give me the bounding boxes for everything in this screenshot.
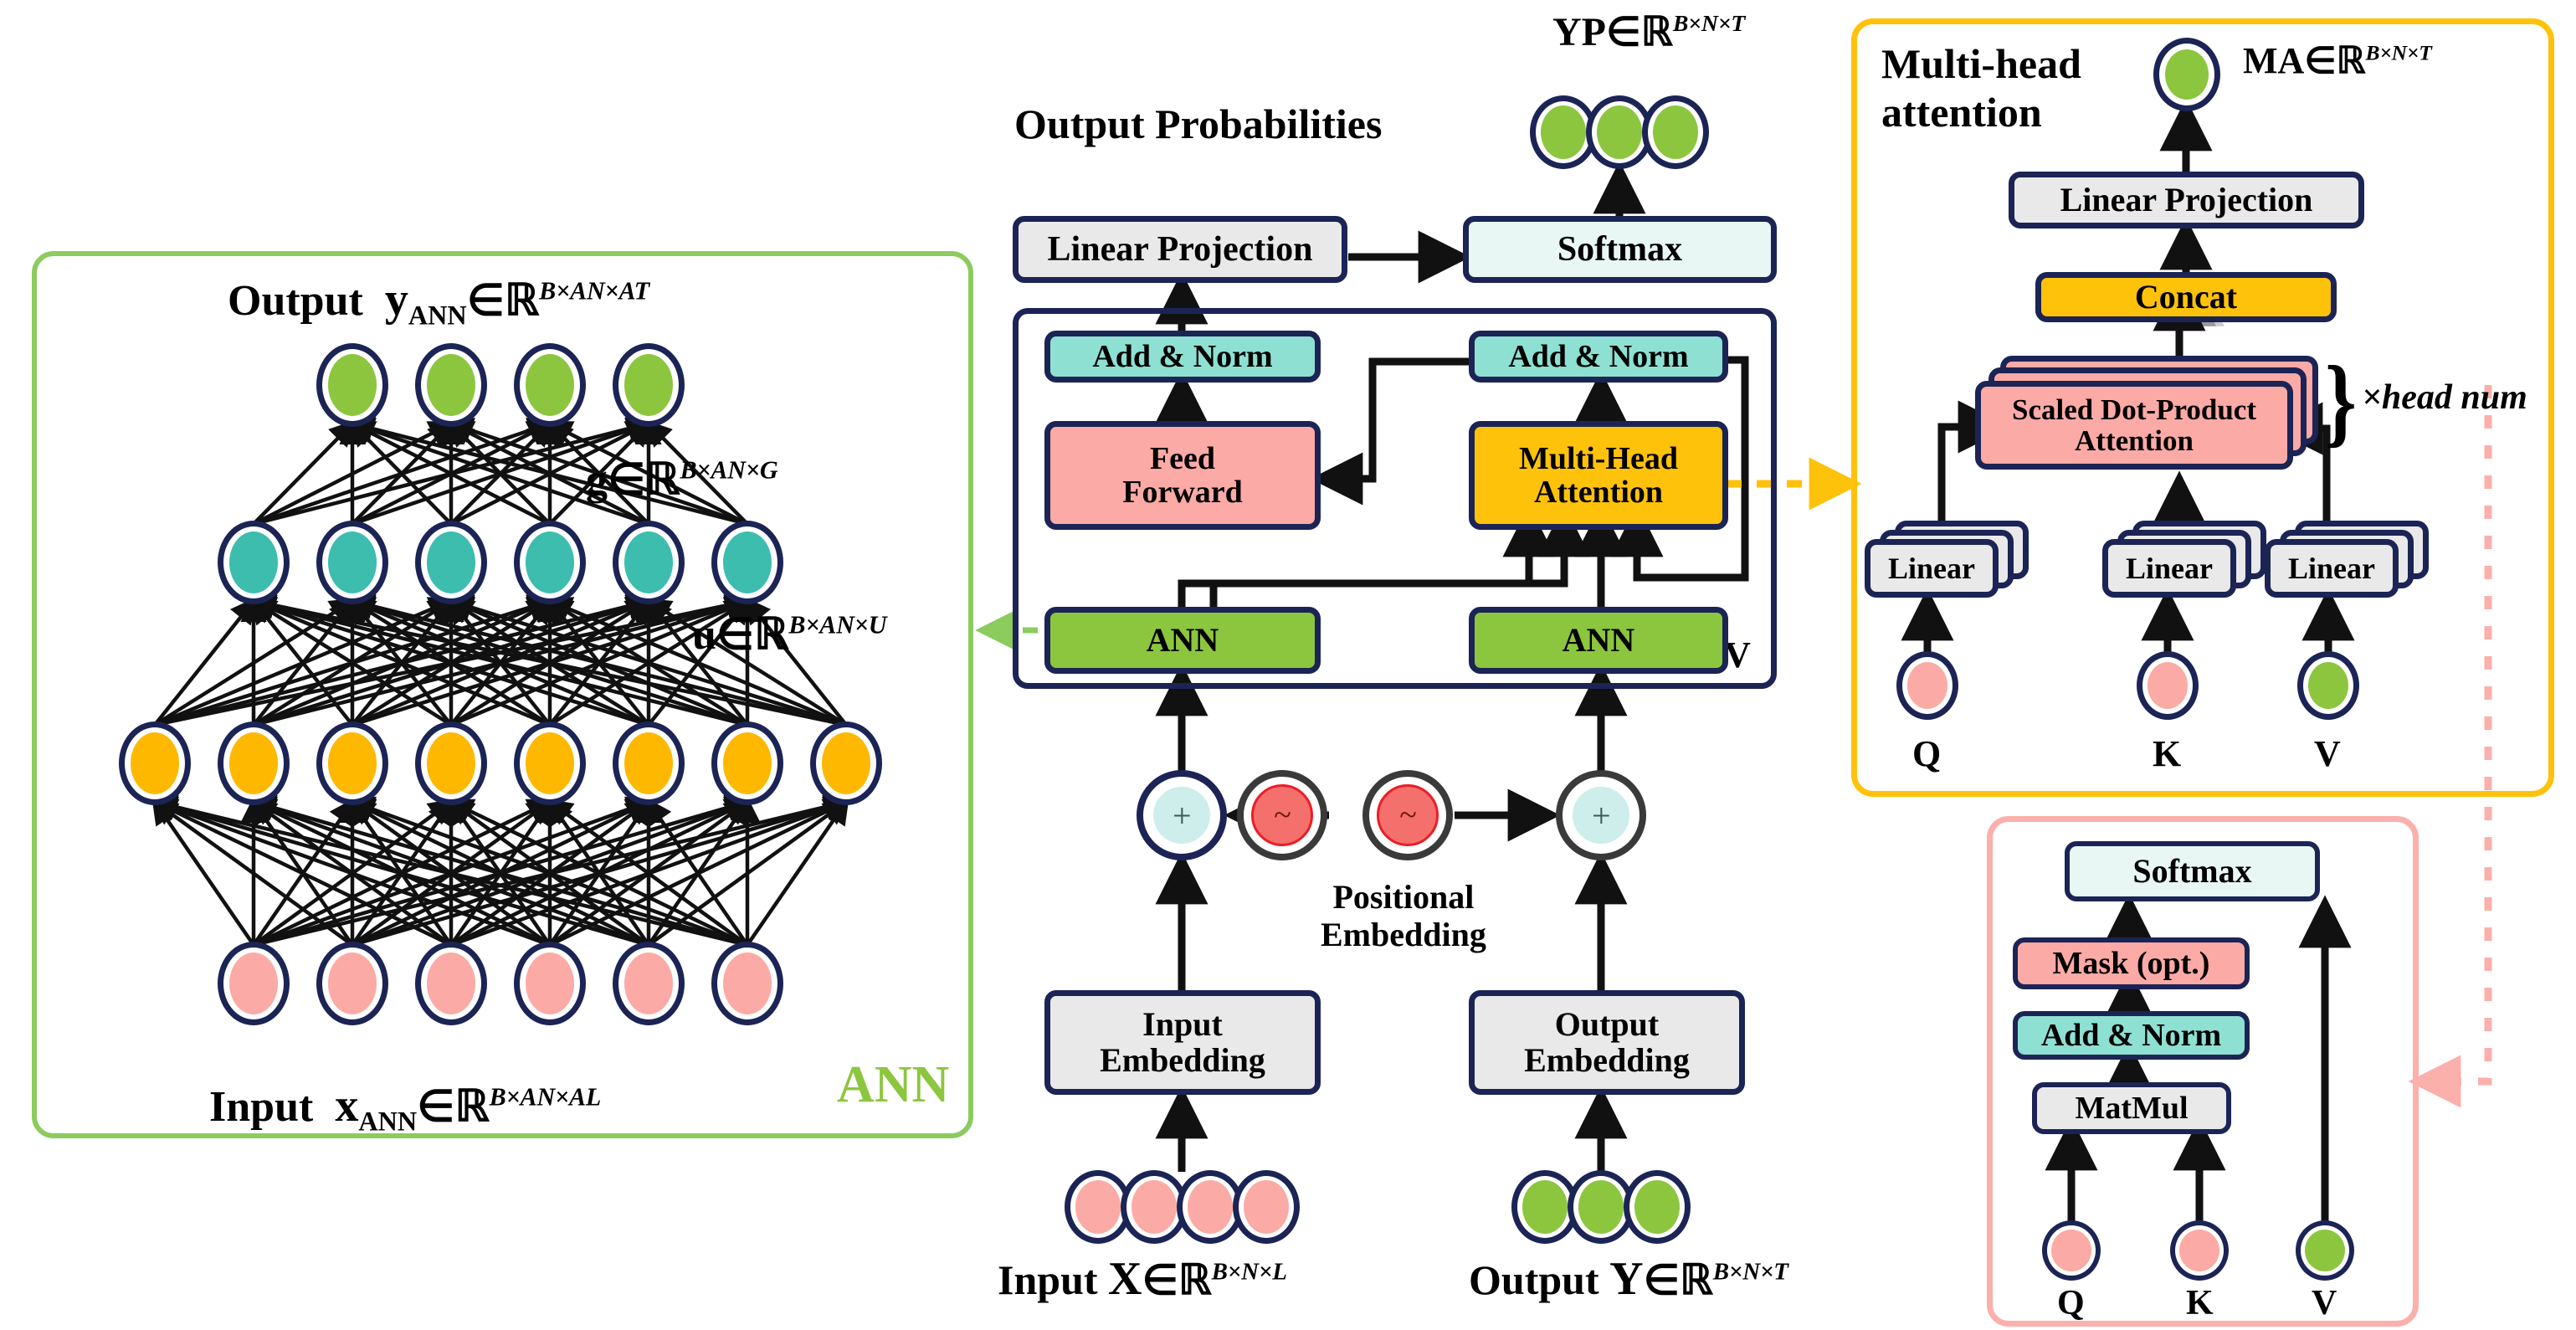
output-embedding-box[interactable]: Output Embedding [1469, 990, 1745, 1095]
scaled-dot-product-stack: Scaled Dot-Product Attention [1975, 356, 2327, 481]
ann-box-right[interactable]: ANN [1469, 607, 1728, 674]
tilde-glyph-right: ~ [1377, 784, 1439, 846]
mha-linear-projection-box[interactable]: Linear Projection [2009, 172, 2364, 229]
ann-node-hidden-layer-g-5 [711, 521, 783, 604]
yp-label: YP∈ℝB×N×T [1552, 10, 1745, 55]
add-norm-right-box[interactable]: Add & Norm [1469, 331, 1728, 383]
mha-k-node [2137, 651, 2199, 720]
ann-node-input-layer-0 [218, 942, 290, 1025]
yp-token-2 [1642, 95, 1709, 169]
ann-node-hidden-layer-u-2 [316, 721, 388, 805]
sdpa-k-label: K [2186, 1284, 2214, 1323]
ma-symbol: MA [2243, 40, 2304, 81]
ann-box-left[interactable]: ANN [1044, 607, 1321, 674]
scaled-dot-product-attention-box[interactable]: Scaled Dot-Product Attention [1975, 381, 2293, 470]
ann-output-sub: ANN [408, 300, 467, 330]
ann-node-output-layer-1 [415, 343, 487, 427]
plus-glyph: + [1153, 787, 1210, 844]
ann-input-sup: B×AN×AL [490, 1083, 602, 1112]
ann-u-symbol: u [692, 611, 716, 659]
multi-head-attention-label: Multi-Head Attention [1519, 442, 1678, 510]
sdpa-v-label: V [2312, 1284, 2337, 1323]
yp-symbol: YP [1552, 10, 1606, 54]
ann-input-in: ∈ [417, 1083, 454, 1131]
ann-node-hidden-layer-u-0 [119, 721, 191, 805]
tf-input-symbol: X [1108, 1253, 1142, 1305]
ann-node-hidden-layer-u-1 [218, 721, 290, 805]
ann-panel [32, 251, 973, 1138]
sdpa-label: Scaled Dot-Product Attention [2012, 394, 2256, 456]
ann-g-R: ℝ [645, 456, 680, 504]
output-token-2 [1624, 1170, 1691, 1244]
ann-g-sup: B×AN×G [680, 456, 777, 485]
mha-k-label: K [2153, 733, 2181, 774]
ann-node-hidden-layer-g-2 [415, 521, 487, 604]
mha-q-label: Q [1912, 733, 1941, 774]
tilde-node-left: ~ [1237, 770, 1327, 860]
plus-glyph-right: + [1573, 787, 1629, 844]
ann-node-hidden-layer-u-4 [514, 721, 586, 805]
mha-q-node [1896, 651, 1958, 720]
ann-input-sub: ANN [358, 1106, 417, 1136]
diagram-canvas: Output yANN∈ℝB×AN×AT g∈ℝB×AN×G u∈ℝB×AN×U… [0, 0, 2576, 1330]
input-embedding-label: Input Embedding [1100, 1007, 1265, 1078]
ann-node-output-layer-2 [514, 343, 586, 427]
ann-node-input-layer-5 [711, 942, 783, 1025]
tf-output-sup: B×N×T [1713, 1258, 1788, 1285]
concat-box[interactable]: Concat [2035, 272, 2337, 322]
ann-output-label: Output yANN∈ℝB×AN×AT [228, 274, 649, 330]
ma-output-node [2153, 38, 2220, 111]
head-num-brace: } [2325, 345, 2357, 457]
linear-v-stack: Linear [2265, 521, 2457, 604]
mha-v-label: V [2314, 733, 2341, 774]
positional-embedding-label: Positional Embedding [1321, 879, 1486, 954]
sdpa-v-node [2296, 1220, 2354, 1281]
sdpa-k-node [2170, 1220, 2229, 1281]
ann-input-prefix: Input [209, 1083, 313, 1131]
ann-u-label: u∈ℝB×AN×U [692, 611, 886, 660]
ann-output-in: ∈ [467, 277, 505, 325]
transformer-input-label: Input X∈ℝB×N×L [998, 1253, 1287, 1306]
linear-q-stack: Linear [1865, 521, 2057, 604]
yp-in: ∈ [1606, 10, 1641, 54]
linear-v-box[interactable]: Linear [2265, 539, 2399, 598]
sdpa-matmul-box[interactable]: MatMul [2032, 1082, 2231, 1134]
tf-input-in: ∈ [1142, 1256, 1178, 1303]
ma-label: MA∈ℝB×N×T [2243, 40, 2432, 81]
linear-projection-box[interactable]: Linear Projection [1013, 216, 1347, 283]
transformer-output-label: Output Y∈ℝB×N×T [1469, 1253, 1788, 1306]
ann-g-in: ∈ [608, 456, 645, 504]
tf-output-prefix: Output [1469, 1256, 1599, 1303]
ann-node-output-layer-3 [613, 343, 685, 427]
ann-node-hidden-layer-u-5 [613, 721, 685, 805]
sdpa-softmax-box[interactable]: Softmax [2065, 841, 2320, 901]
linear-k-box[interactable]: Linear [2102, 539, 2236, 598]
ann-u-sup: B×AN×U [788, 611, 886, 639]
ann-panel-badge: ANN [837, 1056, 949, 1114]
ann-node-hidden-layer-g-4 [613, 521, 685, 604]
yp-R: ℝ [1641, 10, 1673, 54]
head-num-label: ×head num [2362, 378, 2527, 418]
ann-node-input-layer-3 [514, 942, 586, 1025]
ann-input-label: Input xANN∈ℝB×AN×AL [209, 1080, 601, 1136]
softmax-box[interactable]: Softmax [1463, 216, 1777, 283]
tf-input-sup: B×N×L [1212, 1258, 1287, 1285]
ann-output-symbol: y [385, 274, 408, 326]
plus-node-left: + [1137, 770, 1227, 860]
ann-input-R: ℝ [454, 1083, 489, 1131]
ann-input-symbol: x [335, 1080, 358, 1132]
tf-input-R: ℝ [1178, 1256, 1212, 1303]
ann-node-output-layer-0 [316, 343, 388, 427]
ma-sup: B×N×T [2366, 40, 2432, 64]
feed-forward-label: Feed Forward [1122, 442, 1243, 510]
input-token-3 [1233, 1170, 1300, 1244]
sdpa-mask-box[interactable]: Mask (opt.) [2013, 937, 2250, 989]
feed-forward-box[interactable]: Feed Forward [1044, 421, 1321, 530]
sdpa-add-norm-box[interactable]: Add & Norm [2013, 1011, 2250, 1060]
ann-node-input-layer-1 [316, 942, 388, 1025]
ann-node-hidden-layer-u-3 [415, 721, 487, 805]
ma-R: ℝ [2337, 40, 2366, 81]
output-embedding-label: Output Embedding [1524, 1007, 1690, 1078]
ann-node-hidden-layer-g-3 [514, 521, 586, 604]
ann-g-symbol: g [586, 456, 608, 504]
sdpa-q-label: Q [2057, 1284, 2085, 1323]
tilde-glyph-left: ~ [1251, 784, 1313, 846]
ann-node-hidden-layer-g-0 [218, 521, 290, 604]
ann-u-R: ℝ [754, 611, 788, 659]
ann-output-R: ℝ [505, 277, 539, 325]
ann-node-input-layer-2 [415, 942, 487, 1025]
ann-g-label: g∈ℝB×AN×G [586, 456, 777, 505]
yp-sup: B×N×T [1673, 11, 1745, 37]
ann-output-sup: B×AN×AT [539, 277, 649, 306]
output-probabilities-label: Output Probabilities [1014, 100, 1382, 147]
sdpa-q-node [2042, 1220, 2101, 1281]
ann-node-hidden-layer-g-1 [316, 521, 388, 604]
input-embedding-box[interactable]: Input Embedding [1044, 990, 1321, 1095]
ma-in: ∈ [2304, 40, 2336, 81]
mha-panel-title: Multi-head attention [1881, 40, 2081, 136]
ann-u-in: ∈ [716, 611, 754, 659]
plus-node-right: + [1556, 770, 1646, 860]
ann-output-prefix: Output [228, 277, 363, 325]
add-norm-left-box[interactable]: Add & Norm [1044, 331, 1321, 383]
tf-output-in: ∈ [1644, 1256, 1681, 1303]
tf-output-symbol: Y [1609, 1253, 1643, 1305]
tf-input-prefix: Input [998, 1256, 1098, 1303]
ann-node-hidden-layer-u-6 [711, 721, 783, 805]
linear-q-box[interactable]: Linear [1865, 539, 1999, 598]
tilde-node-right: ~ [1362, 770, 1453, 860]
tf-output-R: ℝ [1680, 1256, 1713, 1303]
ann-node-input-layer-4 [613, 942, 685, 1025]
ann-node-hidden-layer-u-7 [810, 721, 882, 805]
multi-head-attention-box[interactable]: Multi-Head Attention [1469, 421, 1728, 530]
mha-v-node [2297, 651, 2359, 720]
